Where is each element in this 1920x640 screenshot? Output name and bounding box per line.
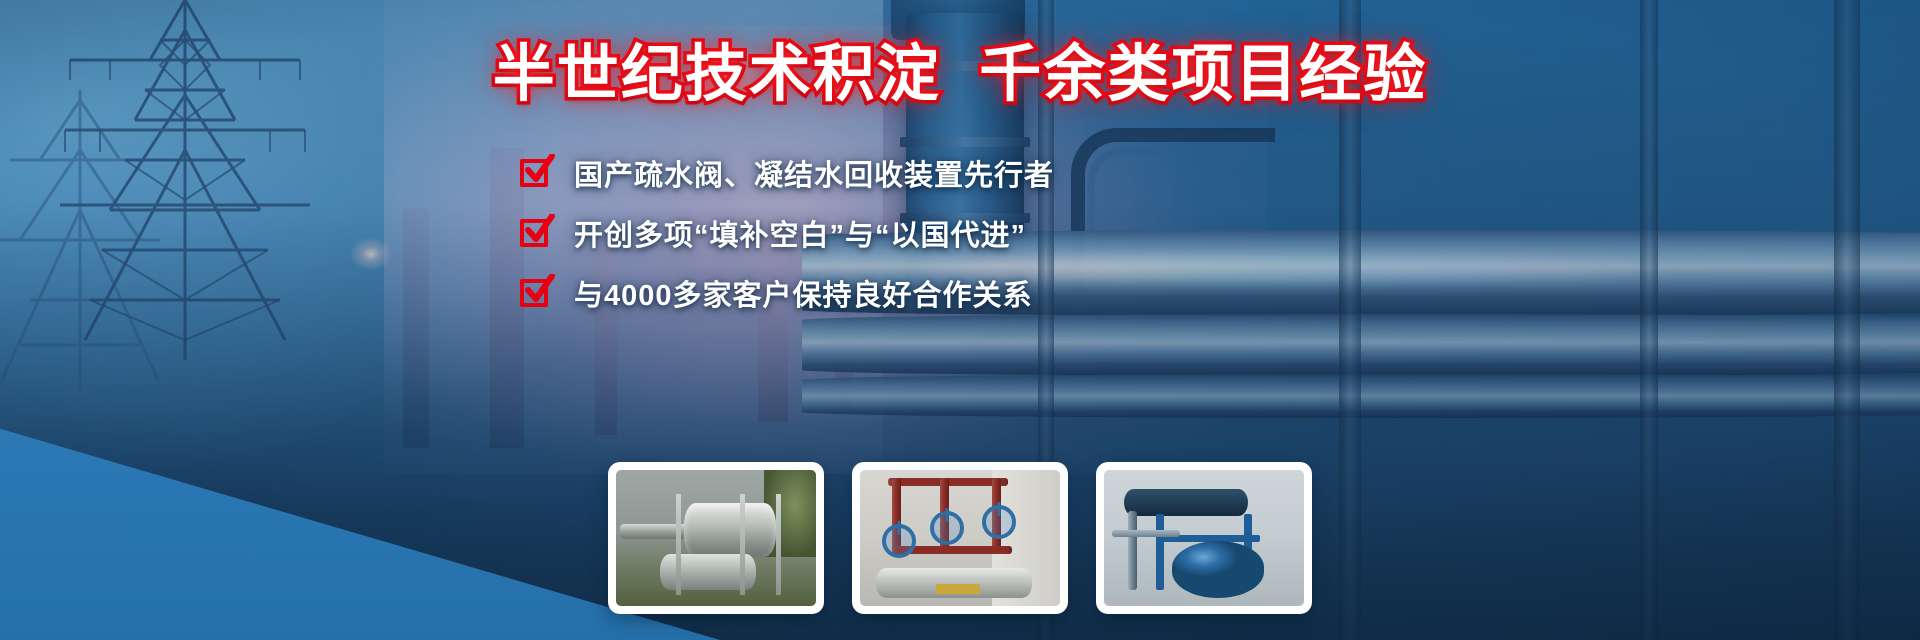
checkbox-checked-icon bbox=[520, 276, 554, 310]
list-item: 与4000多家客户保持良好合作关系 bbox=[520, 272, 1054, 314]
page-title: 半世纪技术积淀 千余类项目经验 bbox=[0, 42, 1920, 109]
list-item-label: 国产疏水阀、凝结水回收装置先行者 bbox=[574, 152, 1054, 194]
banner-content: 半世纪技术积淀 千余类项目经验 国产疏水阀、凝结水回收装置先行者 bbox=[0, 0, 1920, 640]
product-photo-card[interactable] bbox=[608, 462, 824, 614]
product-photo-gallery bbox=[608, 462, 1312, 614]
product-photo-card[interactable] bbox=[852, 462, 1068, 614]
list-item-label: 与4000多家客户保持良好合作关系 bbox=[574, 272, 1033, 314]
list-item: 开创多项“填补空白”与“以国代进” bbox=[520, 212, 1054, 254]
feature-list: 国产疏水阀、凝结水回收装置先行者 开创多项“填补空白”与“以国代进” bbox=[520, 152, 1054, 314]
list-item-label: 开创多项“填补空白”与“以国代进” bbox=[574, 212, 1026, 254]
product-photo-image bbox=[616, 470, 816, 606]
product-photo-image bbox=[1104, 470, 1304, 606]
list-item: 国产疏水阀、凝结水回收装置先行者 bbox=[520, 152, 1054, 194]
checkbox-checked-icon bbox=[520, 156, 554, 190]
promo-banner: 半世纪技术积淀 千余类项目经验 国产疏水阀、凝结水回收装置先行者 bbox=[0, 0, 1920, 640]
checkbox-checked-icon bbox=[520, 216, 554, 250]
product-photo-image bbox=[860, 470, 1060, 606]
product-photo-card[interactable] bbox=[1096, 462, 1312, 614]
